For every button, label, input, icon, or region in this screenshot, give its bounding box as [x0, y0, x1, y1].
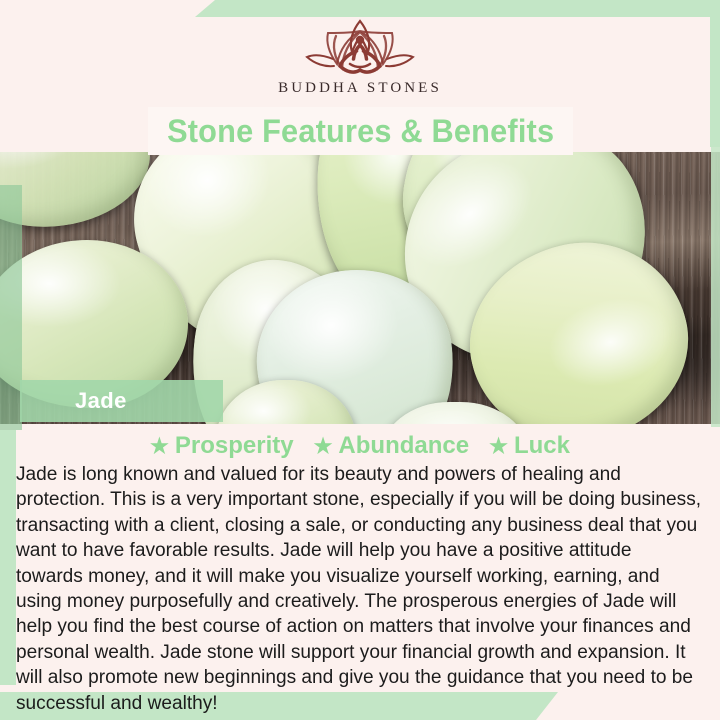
right-green-accent-strip-lower: [711, 147, 720, 427]
star-icon: ★: [150, 436, 169, 457]
benefit-item: ★ Luck: [489, 432, 570, 460]
star-icon: ★: [314, 436, 333, 457]
benefits-row: ★ Prosperity ★ Abundance ★ Luck: [0, 430, 720, 462]
stone-name-band: Jade: [20, 380, 223, 422]
star-icon: ★: [489, 436, 508, 457]
benefit-label: Prosperity: [175, 432, 294, 460]
left-green-accent-strip-lower: [0, 430, 16, 685]
logo: BUDDHA STONES: [278, 16, 442, 97]
benefit-label: Luck: [514, 432, 570, 460]
benefit-label: Abundance: [338, 432, 469, 460]
brand-header: BUDDHA STONES: [0, 0, 720, 112]
benefit-item: ★ Prosperity: [150, 432, 294, 460]
section-title-band: Stone Features & Benefits: [148, 107, 573, 155]
brand-name: BUDDHA STONES: [278, 80, 442, 97]
benefit-item: ★ Abundance: [314, 432, 470, 460]
left-green-accent-strip: [0, 185, 22, 430]
page-title: Stone Features & Benefits: [167, 113, 554, 150]
lotus-meditation-icon: [300, 16, 420, 78]
stone-name-label: Jade: [75, 388, 127, 414]
description-paragraph: Jade is long known and valued for its be…: [16, 462, 701, 716]
